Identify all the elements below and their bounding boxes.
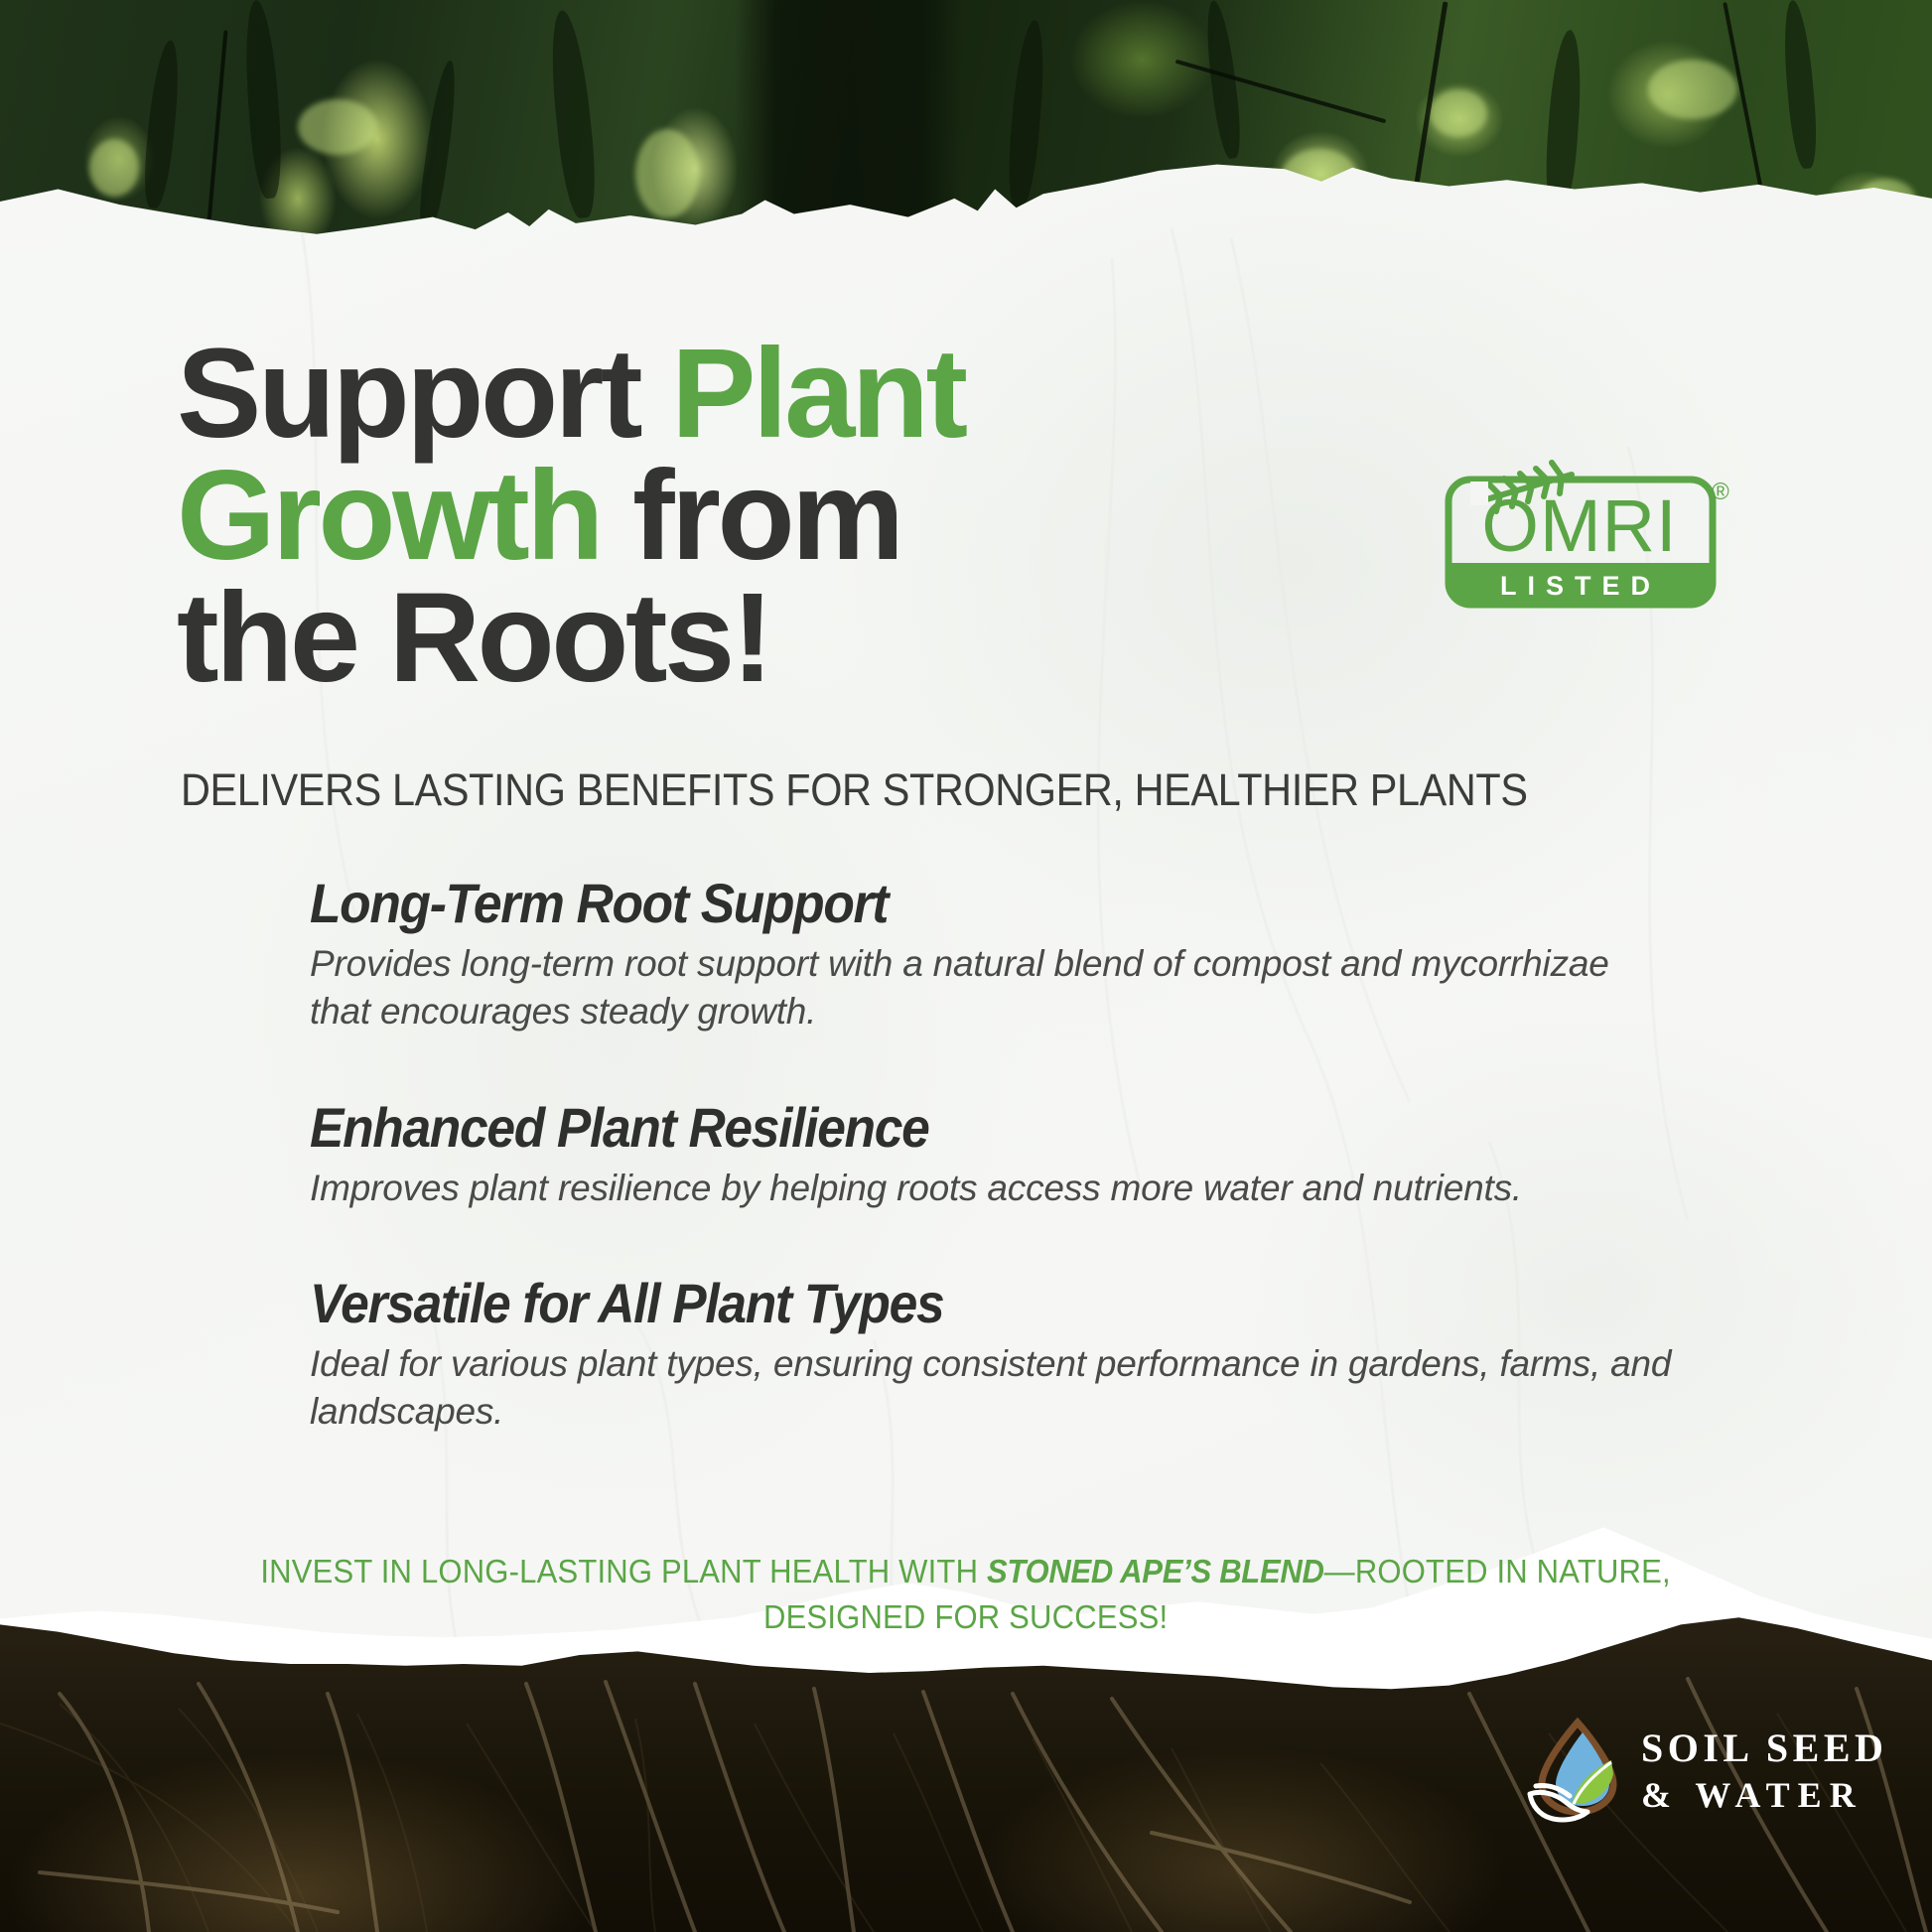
subheadline: DELIVERS LASTING BENEFITS FOR STRONGER, … — [181, 764, 1528, 816]
cta-brand-name: STONED APE’S BLEND — [987, 1553, 1324, 1589]
headline-line-1: Support Plant — [177, 334, 1289, 456]
headline-support: Support — [177, 323, 671, 465]
list-item: Long-Term Root Support Provides long-ter… — [310, 874, 1729, 1036]
brand-wordmark: SOIL SEED & WATER — [1641, 1728, 1887, 1813]
brand-logo: SOIL SEED & WATER — [1526, 1706, 1893, 1835]
omri-wordmark: OMRI — [1481, 484, 1677, 567]
registered-trademark-icon: ® — [1712, 479, 1729, 505]
listed-wordmark: LISTED — [1500, 571, 1661, 601]
omri-listed-badge: OMRI LISTED ® — [1441, 452, 1738, 625]
feature-body: Improves plant resilience by helping roo… — [310, 1165, 1571, 1212]
headline-growth: Growth — [177, 445, 601, 587]
page-title: Support Plant Growth from the Roots! — [177, 334, 1289, 700]
feature-body: Ideal for various plant types, ensuring … — [310, 1340, 1715, 1436]
feature-body: Provides long-term root support with a n… — [310, 940, 1640, 1035]
headline-plant: Plant — [671, 323, 964, 465]
poster-canvas: Support Plant Growth from the Roots! DEL… — [0, 0, 1932, 1932]
feature-list: Long-Term Root Support Provides long-ter… — [310, 874, 1729, 1437]
feature-title: Versatile for All Plant Types — [310, 1274, 1616, 1332]
feature-title: Enhanced Plant Resilience — [310, 1098, 1616, 1157]
headline-line-2: Growth from — [177, 456, 1289, 578]
cta-line-1: INVEST IN LONG-LASTING PLANT HEALTH WITH… — [261, 1549, 1672, 1594]
headline-from: from — [601, 445, 901, 587]
list-item: Enhanced Plant Resilience Improves plant… — [310, 1098, 1729, 1212]
soil-seed-water-drop-icon — [1526, 1717, 1623, 1824]
brand-line-1: SOIL SEED — [1641, 1728, 1887, 1768]
call-to-action: INVEST IN LONG-LASTING PLANT HEALTH WITH… — [0, 1549, 1932, 1639]
cta-tail: —ROOTED IN NATURE, — [1324, 1553, 1671, 1589]
headline-line-3: the Roots! — [177, 578, 1289, 700]
brand-line-2: & WATER — [1641, 1777, 1887, 1813]
cta-line-2: DESIGNED FOR SUCCESS! — [763, 1594, 1168, 1640]
cta-lead: INVEST IN LONG-LASTING PLANT HEALTH WITH — [261, 1553, 988, 1589]
feature-title: Long-Term Root Support — [310, 874, 1616, 932]
list-item: Versatile for All Plant Types Ideal for … — [310, 1274, 1729, 1437]
